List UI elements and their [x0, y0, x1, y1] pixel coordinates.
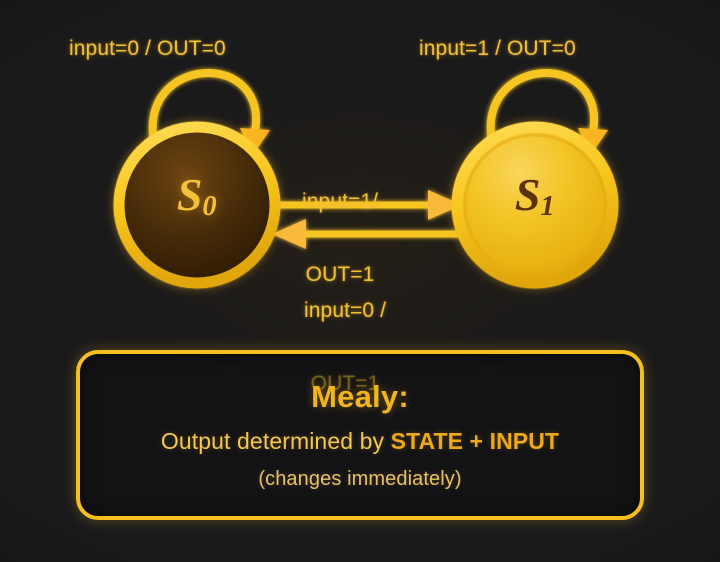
info-box-main-prefix: Output determined by — [161, 428, 391, 454]
edge-label-s0-to-s1-line1: input=1/ — [302, 190, 378, 214]
state-label-s1-subscript: 1 — [540, 191, 555, 222]
state-label-s0-letter: S — [177, 169, 203, 220]
info-box-note: (changes immediately) — [258, 468, 461, 491]
diagram-canvas: S0 S1 input=0 / OUT=0 input=1 / OUT=0 in… — [0, 0, 720, 562]
state-label-s0-subscript: 0 — [202, 191, 217, 222]
info-box-main-line: Output determined by STATE + INPUT — [161, 428, 559, 455]
edge-label-self-loop-s1: input=1 / OUT=0 — [419, 37, 576, 61]
info-box: Mealy: Output determined by STATE + INPU… — [76, 350, 644, 520]
info-box-main-emphasis: STATE + INPUT — [391, 428, 560, 454]
edge-label-self-loop-s0: input=0 / OUT=0 — [69, 37, 226, 61]
state-label-s0: S0 — [147, 168, 247, 223]
edge-label-s1-to-s0-line1: input=0 / — [304, 299, 386, 323]
state-label-s1-letter: S — [515, 169, 541, 220]
state-label-s1: S1 — [485, 168, 585, 223]
info-box-title: Mealy: — [311, 379, 409, 415]
